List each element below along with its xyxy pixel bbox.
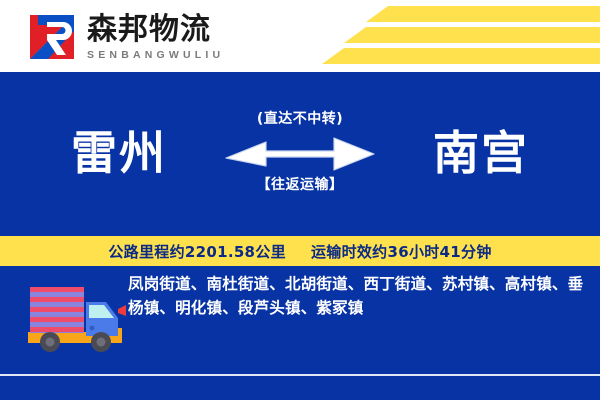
coverage-row: 凤岗街道、南杜街道、北胡街道、西丁街道、苏村镇、高村镇、垂杨镇、明化镇、段芦头镇…	[0, 272, 600, 359]
brand-name-cn: 森邦物流	[87, 14, 224, 46]
brand-name-en: SENBANGWULIU	[87, 50, 224, 61]
round-trip-note: 【往返运输】	[257, 178, 344, 193]
diagonal-stripes-icon	[270, 0, 600, 72]
delivery-truck-icon	[22, 341, 126, 358]
logistics-route-banner: 森邦物流 SENBANGWULIU 雷州 (直达不中转) 【往返运输】	[0, 0, 600, 400]
brand-logo-group: 森邦物流 SENBANGWULIU	[26, 9, 276, 65]
coverage-area-list: 凤岗街道、南杜街道、北胡街道、西丁街道、苏村镇、高村镇、垂杨镇、明化镇、段芦头镇…	[128, 272, 600, 320]
bottom-divider	[0, 374, 600, 376]
bidirectional-arrow-icon	[224, 132, 376, 172]
direct-route-note: (直达不中转)	[257, 112, 343, 127]
duration-label: 运输时效约36小时41分钟	[311, 243, 492, 261]
route-middle-group: (直达不中转) 【往返运输】	[205, 112, 395, 194]
senbang-r-logo-icon	[26, 11, 78, 63]
route-row: 雷州 (直达不中转) 【往返运输】 南宫	[0, 100, 600, 205]
banner-header: 森邦物流 SENBANGWULIU	[0, 0, 600, 72]
distance-label: 公路里程约2201.58公里	[108, 243, 286, 261]
info-bar-text: 公路里程约2201.58公里 运输时效约36小时41分钟	[108, 241, 491, 262]
info-bar: 公路里程约2201.58公里 运输时效约36小时41分钟	[0, 236, 600, 266]
origin-city: 雷州	[33, 130, 205, 176]
destination-city: 南宫	[395, 130, 567, 176]
brand-text-group: 森邦物流 SENBANGWULIU	[87, 13, 224, 61]
truck-illustration-wrap	[0, 272, 128, 359]
